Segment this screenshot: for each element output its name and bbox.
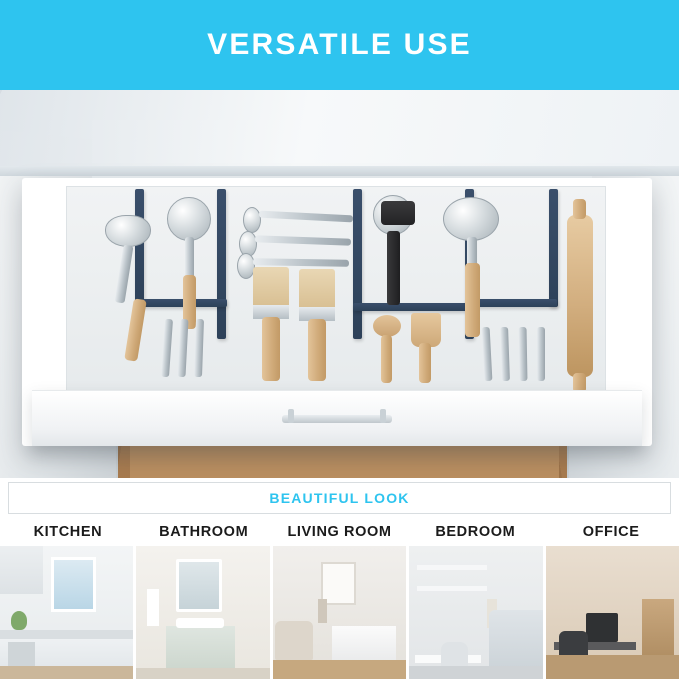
room-label-living-room: LIVING ROOM bbox=[272, 524, 408, 548]
beautiful-look-title: BEAUTIFUL LOOK bbox=[269, 490, 409, 506]
room-label-bedroom: BEDROOM bbox=[407, 524, 543, 548]
ladle-handle-wood bbox=[124, 298, 147, 361]
divider-horizontal-2 bbox=[353, 303, 475, 311]
skimmer-handle-steel bbox=[185, 237, 194, 279]
kitchen-window bbox=[51, 557, 96, 613]
kitchen-plant bbox=[11, 611, 27, 630]
fork-4 bbox=[537, 327, 545, 381]
wooden-spatula-blade bbox=[411, 313, 441, 347]
bedroom-shelf-lower bbox=[417, 586, 486, 591]
frying-pan-handle-wood bbox=[465, 263, 480, 337]
marble-countertop bbox=[0, 90, 679, 176]
room-label-bathroom: BATHROOM bbox=[136, 524, 272, 548]
frying-pan-body bbox=[443, 197, 499, 241]
kitchen-upper-cabinets bbox=[0, 546, 43, 594]
serving-spoon-1-bowl bbox=[243, 207, 261, 233]
beautiful-look-bar: BEAUTIFUL LOOK bbox=[8, 482, 671, 514]
living-room-floor bbox=[273, 660, 406, 679]
living-room-armchair bbox=[275, 621, 312, 661]
pastry-brush-2-bristles bbox=[299, 269, 335, 309]
thumbnail-bathroom bbox=[136, 546, 269, 679]
bathroom-towel bbox=[147, 589, 159, 626]
bathroom-sink bbox=[176, 618, 224, 629]
thumbnail-living-room bbox=[273, 546, 406, 679]
promo-image: VERSATILE USE bbox=[0, 0, 679, 679]
room-label-office: OFFICE bbox=[543, 524, 679, 548]
drawer-interior bbox=[66, 186, 606, 401]
wooden-spoon-handle bbox=[381, 335, 392, 383]
rolling-pin-handle-top bbox=[573, 199, 586, 219]
bathroom-floor bbox=[136, 668, 269, 679]
open-drawer bbox=[22, 178, 652, 446]
divider-vertical-5 bbox=[549, 189, 558, 307]
drawer-handle[interactable] bbox=[282, 415, 392, 423]
office-cabinet bbox=[642, 599, 674, 658]
knife-2 bbox=[177, 319, 188, 377]
rolling-pin bbox=[567, 215, 593, 377]
thumbnail-office bbox=[546, 546, 679, 679]
divider-vertical-1 bbox=[135, 189, 144, 305]
bedroom-shelf-upper bbox=[417, 565, 486, 570]
living-room-wall-art bbox=[321, 562, 356, 605]
ladle-bowl bbox=[105, 215, 151, 247]
divider-vertical-3 bbox=[353, 189, 362, 339]
room-thumbnails bbox=[0, 546, 679, 679]
pizza-cutter-handle bbox=[387, 231, 400, 305]
bedroom-floor bbox=[409, 666, 542, 679]
kitchen-countertop bbox=[0, 630, 133, 639]
room-labels: KITCHEN BATHROOM LIVING ROOM BEDROOM OFF… bbox=[0, 524, 679, 548]
knife-1 bbox=[161, 319, 173, 377]
knife-3 bbox=[194, 319, 204, 377]
living-room-dresser bbox=[332, 626, 396, 663]
fork-2 bbox=[500, 327, 510, 381]
thumbnail-kitchen bbox=[0, 546, 133, 679]
thumbnail-bedroom bbox=[409, 546, 542, 679]
drawer-front-panel bbox=[32, 390, 642, 446]
wooden-spatula-handle bbox=[419, 343, 431, 383]
fork-3 bbox=[519, 327, 528, 381]
fork-1 bbox=[482, 327, 493, 381]
divider-vertical-2 bbox=[217, 189, 226, 339]
room-label-kitchen: KITCHEN bbox=[0, 524, 136, 548]
skimmer-head bbox=[167, 197, 211, 241]
office-floor bbox=[546, 655, 679, 679]
hero-photo bbox=[0, 90, 679, 478]
serving-spoon-2-handle bbox=[255, 235, 351, 245]
bathroom-mirror bbox=[176, 559, 221, 612]
bathroom-vanity bbox=[166, 626, 235, 671]
serving-spoon-3-handle bbox=[253, 258, 349, 267]
banner-title: VERSATILE USE bbox=[207, 28, 472, 62]
ladle-handle-steel bbox=[115, 245, 134, 304]
office-monitor bbox=[586, 613, 618, 642]
versatile-use-banner: VERSATILE USE bbox=[0, 0, 679, 90]
pastry-brush-1-bristles bbox=[253, 267, 289, 307]
pastry-brush-2-handle bbox=[308, 319, 326, 381]
wooden-spoon-bowl bbox=[373, 315, 401, 337]
kitchen-floor bbox=[0, 666, 133, 679]
divider-horizontal-1 bbox=[135, 299, 227, 307]
pastry-brush-1-handle bbox=[262, 317, 280, 381]
pizza-cutter-guard bbox=[381, 201, 415, 225]
living-room-floor-lamp bbox=[318, 599, 327, 623]
serving-spoon-1-handle bbox=[259, 211, 353, 223]
